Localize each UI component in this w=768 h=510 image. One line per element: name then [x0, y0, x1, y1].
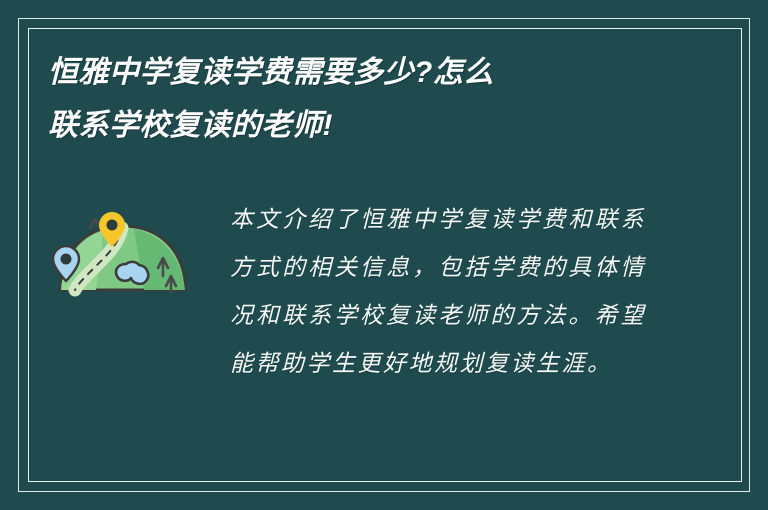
map-location-illustration	[48, 202, 198, 302]
summary-section: 本文介绍了恒雅中学复读学费和联系方式的相关信息，包括学费的具体情况和联系学校复读…	[48, 196, 720, 388]
title-line-2: 联系学校复读的老师!	[48, 111, 688, 141]
title-line-1: 恒雅中学复读学费需要多少?怎么	[48, 58, 688, 88]
summary-text: 本文介绍了恒雅中学复读学费和联系方式的相关信息，包括学费的具体情况和联系学校复读…	[230, 196, 646, 388]
lake-shape	[116, 262, 148, 284]
page-title: 恒雅中学复读学费需要多少?怎么 联系学校复读的老师!	[48, 58, 688, 141]
article-cover-card: 恒雅中学复读学费需要多少?怎么 联系学校复读的老师!	[0, 0, 768, 510]
